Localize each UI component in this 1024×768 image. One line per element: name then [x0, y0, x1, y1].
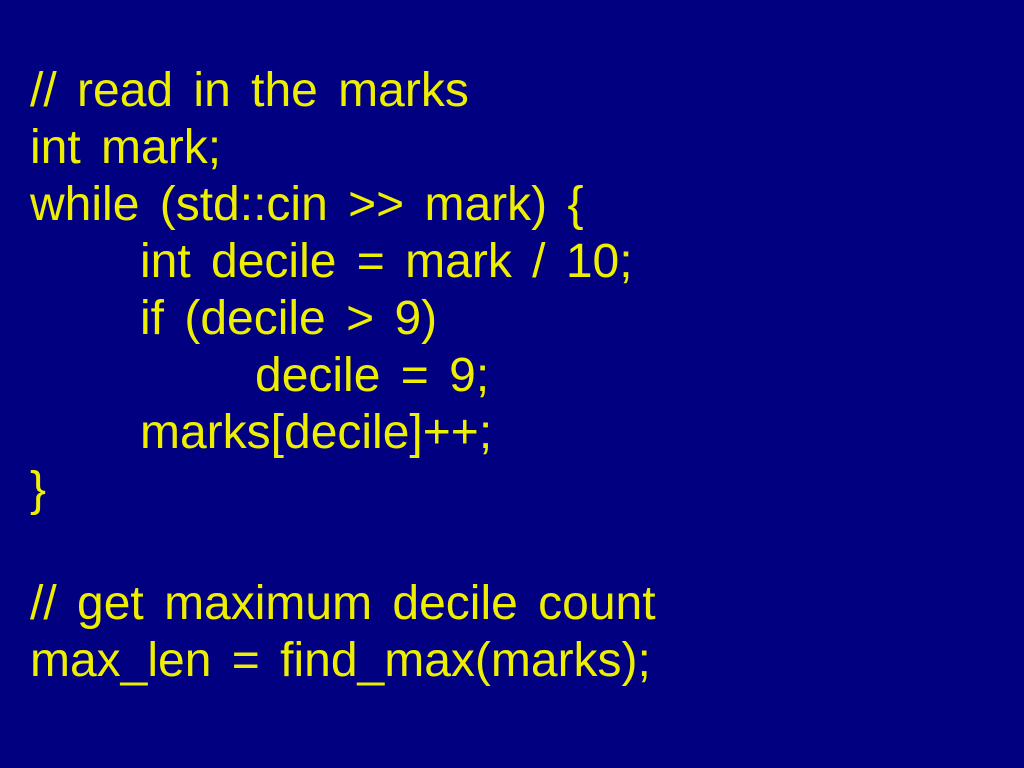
- code-listing: // read in the marksint mark;while (std:…: [30, 62, 1010, 689]
- code-line: int mark;: [30, 119, 1010, 176]
- code-line: // read in the marks: [30, 62, 1010, 119]
- code-line: marks[decile]++;: [30, 404, 1010, 461]
- code-line: decile = 9;: [30, 347, 1010, 404]
- presentation-slide: // read in the marksint mark;while (std:…: [0, 0, 1024, 768]
- code-line: }: [30, 461, 1010, 518]
- code-line: int decile = mark / 10;: [30, 233, 1010, 290]
- code-line: // get maximum decile count: [30, 575, 1010, 632]
- code-line: while (std::cin >> mark) {: [30, 176, 1010, 233]
- code-line: if (decile > 9): [30, 290, 1010, 347]
- code-line: max_len = find_max(marks);: [30, 632, 1010, 689]
- code-blank-line: [30, 518, 1010, 575]
